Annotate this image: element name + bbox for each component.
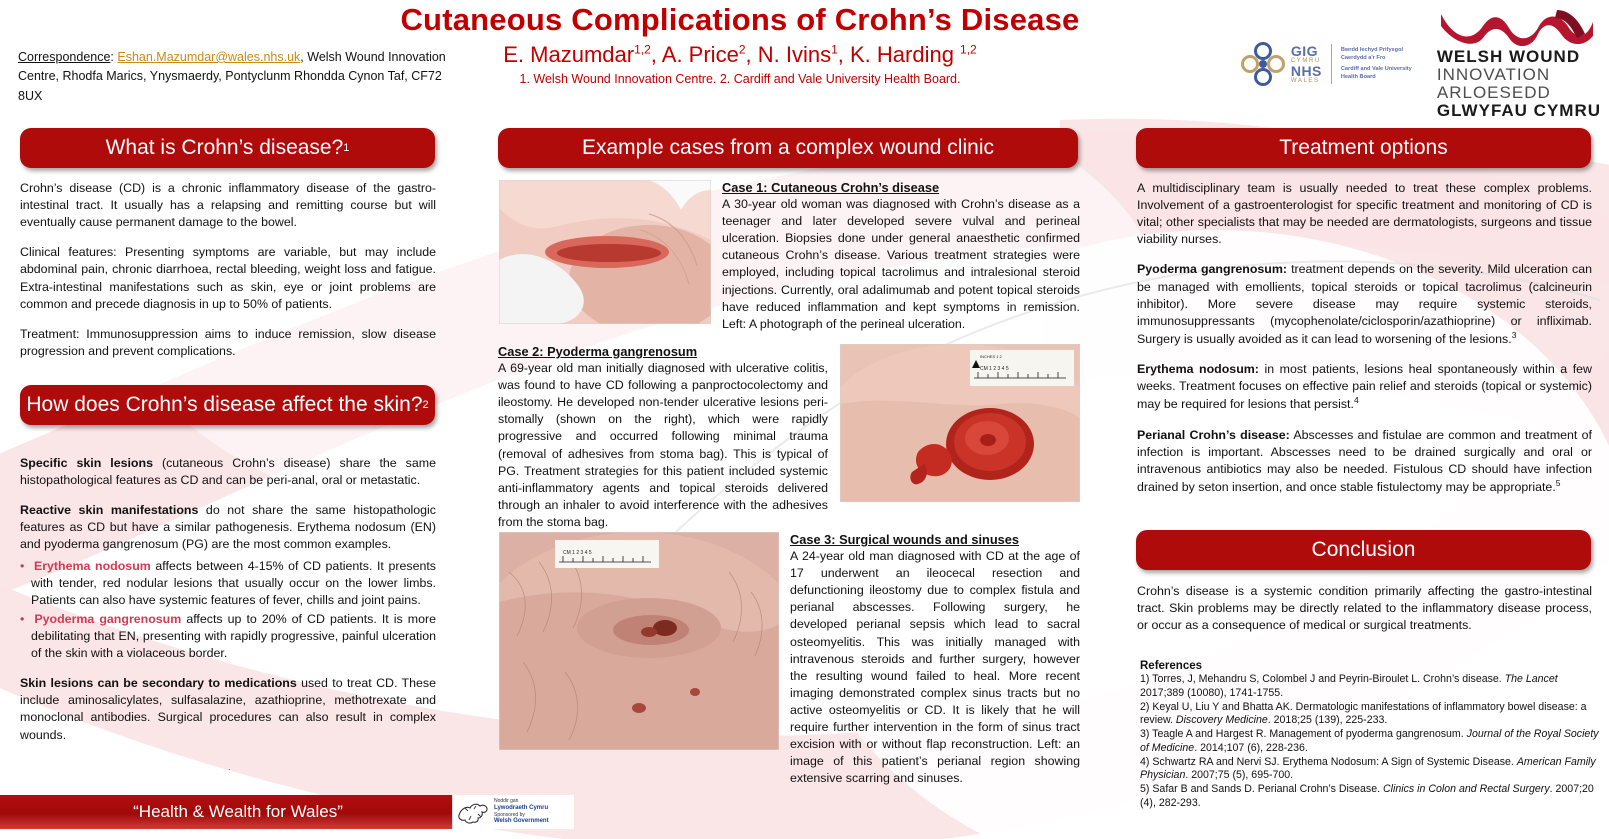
affect-skin-bullet-pyoderma-gangrenosum: Pyoderma gangrenosum affects up to 20% o… — [20, 611, 436, 662]
affiliations: 1. Welsh Wound Innovation Centre. 2. Car… — [390, 72, 1090, 86]
section-heading-what-is-crohns: What is Crohn’s disease?1 — [20, 128, 435, 168]
svg-text:CM 1 2 3 4 5: CM 1 2 3 4 5 — [563, 550, 592, 556]
case-1-body: Case 1: Cutaneous Crohn’s disease A 30-y… — [722, 180, 1080, 333]
treatment-options-body: A multidisciplinary team is usually need… — [1137, 180, 1592, 496]
case-2-photo-image: CM 1 2 3 4 5 INCHES 1 2 — [840, 344, 1080, 502]
affect-skin-p3-bold: Skin lesions can be secondary to medicat… — [20, 676, 297, 690]
reference-item: 1) Torres, J, Mehandru S, Colombel J and… — [1140, 673, 1600, 701]
wwi-line-3: ARLOESEDD — [1437, 84, 1551, 102]
wwi-ribbon-icon — [1437, 8, 1597, 48]
affect-skin-bullet-erythema-nodosum: Erythema nodosum affects between 4-15% o… — [20, 558, 436, 609]
welsh-government-text: Noddir gan Lywodraeth Cymru Sponsored by… — [494, 798, 549, 826]
treatment-options-heading-text: Treatment options — [1279, 136, 1447, 160]
section-heading-example-cases: Example cases from a complex wound clini… — [498, 128, 1078, 168]
section-heading-treatment-options: Treatment options — [1136, 128, 1591, 168]
affect-skin-p2: Reactive skin manifestations do not shar… — [20, 502, 436, 553]
conclusion-p1: Crohn’s disease is a systemic condition … — [1137, 583, 1592, 634]
footer-slogan-bar: “Health & Wealth for Wales” — [0, 795, 498, 829]
what-is-crohns-p2: Clinical features: Presenting symptoms a… — [20, 244, 436, 312]
case-3-photo-image: CM 1 2 3 4 5 — [499, 532, 779, 750]
treatment-perianal-ref: 5 — [1556, 478, 1561, 488]
welsh-government-logo: Noddir gan Lywodraeth Cymru Sponsored by… — [452, 795, 574, 829]
svg-text:CM 1 2 3 4 5: CM 1 2 3 4 5 — [980, 366, 1009, 372]
what-is-crohns-heading-text: What is Crohn’s disease? — [106, 136, 344, 160]
section-heading-affect-skin: How does Crohn’s disease affect the skin… — [20, 385, 435, 425]
footer-slogan: “Health & Wealth for Wales” — [133, 802, 343, 822]
health-board-name: Bwrdd Iechyd Prifysgol Caerdydd a'r Fro … — [1341, 46, 1423, 81]
treatment-erythema-ref: 4 — [1354, 395, 1359, 405]
nhs-nhs-text: NHS — [1291, 64, 1322, 78]
poster-footer: “Health & Wealth for Wales” Noddir gan L… — [0, 795, 575, 829]
pyoderma-gangrenosum-term: Pyoderma gangrenosum — [34, 612, 181, 626]
case-3-photo: CM 1 2 3 4 5 — [499, 532, 779, 750]
poster-header: Correspondence: Eshan.Mazumdar@wales.nhs… — [0, 0, 1609, 118]
affect-skin-ref: 2 — [423, 399, 429, 411]
reference-item: 2) Keyal U, Liu Y and Bhatta AK. Dermato… — [1140, 701, 1600, 729]
correspondence-label: Correspondence — [18, 50, 110, 64]
health-board-welsh: Bwrdd Iechyd Prifysgol Caerdydd a'r Fro — [1341, 46, 1423, 62]
treatment-pyoderma-label: Pyoderma gangrenosum: — [1137, 262, 1287, 276]
case-1-photo-image — [499, 180, 711, 324]
treatment-p1: A multidisciplinary team is usually need… — [1137, 180, 1592, 248]
nhs-gig-text: GIG — [1291, 44, 1322, 58]
affect-skin-p3: Skin lesions can be secondary to medicat… — [20, 675, 436, 743]
case-1-photo — [499, 180, 711, 324]
case-2-body: Case 2: Pyoderma gangrenosum A 69-year o… — [498, 344, 828, 531]
wg-english-line-2: Welsh Government — [494, 818, 549, 826]
treatment-pyoderma: Pyoderma gangrenosum: treatment depends … — [1137, 261, 1592, 348]
case-2-photo: CM 1 2 3 4 5 INCHES 1 2 — [840, 344, 1080, 502]
case-1-text: A 30-year old woman was diagnosed with C… — [722, 196, 1080, 333]
logo-divider — [1331, 44, 1332, 84]
what-is-crohns-ref: 1 — [343, 142, 349, 154]
nhs-wales-text: WALES — [1291, 78, 1322, 84]
affect-skin-p1-bold: Specific skin lesions — [20, 456, 153, 470]
case-3-title: Case 3: Surgical wounds and sinuses — [790, 532, 1080, 547]
wwi-line-1: WELSH WOUND — [1437, 48, 1580, 66]
example-cases-heading-text: Example cases from a complex wound clini… — [582, 136, 994, 160]
nhs-knot-icon — [1240, 41, 1286, 87]
conclusion-heading-text: Conclusion — [1312, 538, 1416, 562]
logo-group: GIG CYMRU NHS WALES Bwrdd Iechyd Prifysg… — [1240, 8, 1601, 119]
reference-item: 5) Safar B and Sands D. Perianal Crohn’s… — [1140, 783, 1600, 811]
conclusion-body: Crohn’s disease is a systemic condition … — [1137, 583, 1592, 634]
welsh-dragon-icon — [456, 799, 490, 825]
treatment-erythema-label: Erythema nodosum: — [1137, 362, 1259, 376]
case-3-text: A 24-year old man diagnosed with CD at t… — [790, 548, 1080, 788]
section-heading-conclusion: Conclusion — [1136, 530, 1591, 570]
page-title: Cutaneous Complications of Crohn’s Disea… — [390, 2, 1090, 38]
nhs-wales-logo: GIG CYMRU NHS WALES Bwrdd Iechyd Prifysg… — [1240, 41, 1423, 87]
health-board-english: Cardiff and Vale University Health Board — [1341, 65, 1423, 81]
welsh-wound-innovation-logo: WELSH WOUND INNOVATION ARLOESEDD GLWYFAU… — [1437, 8, 1601, 119]
affect-skin-p2-bold: Reactive skin manifestations — [20, 503, 198, 517]
what-is-crohns-p3: Treatment: Immunosuppression aims to ind… — [20, 326, 436, 360]
affect-skin-heading-text: How does Crohn’s disease affect the skin… — [26, 393, 422, 417]
treatment-perianal: Perianal Crohn’s disease: Abscesses and … — [1137, 427, 1592, 497]
wg-welsh-line-2: Lywodraeth Cymru — [494, 805, 549, 813]
treatment-pyoderma-ref: 3 — [1512, 330, 1517, 340]
treatment-erythema: Erythema nodosum: in most patients, lesi… — [1137, 361, 1592, 413]
treatment-perianal-label: Perianal Crohn’s disease: — [1137, 428, 1290, 442]
decorative-dot: . — [228, 762, 231, 772]
what-is-crohns-p1: Crohn’s disease (CD) is a chronic inflam… — [20, 180, 436, 231]
case-3-body: Case 3: Surgical wounds and sinuses A 24… — [790, 532, 1080, 788]
author-list: E. Mazumdar1,2, A. Price2, N. Ivins1, K.… — [390, 42, 1090, 68]
references-block: References 1) Torres, J, Mehandru S, Col… — [1140, 660, 1600, 811]
wwi-line-4: GLWYFAU CYMRU — [1437, 102, 1601, 120]
correspondence-email-link[interactable]: Eshan.Mazumdar@wales.nhs.uk — [117, 50, 300, 64]
svg-text:INCHES 1 2: INCHES 1 2 — [980, 354, 1003, 359]
affect-skin-p1: Specific skin lesions (cutaneous Crohn’s… — [20, 455, 436, 489]
case-2-text: A 69-year old man initially diagnosed wi… — [498, 360, 828, 531]
nhs-wordmark: GIG CYMRU NHS WALES — [1291, 44, 1322, 84]
references-list: 1) Torres, J, Mehandru S, Colombel J and… — [1140, 673, 1600, 811]
case-2-title: Case 2: Pyoderma gangrenosum — [498, 344, 828, 359]
poster-canvas: Correspondence: Eshan.Mazumdar@wales.nhs… — [0, 0, 1609, 839]
wwi-line-2: INNOVATION — [1437, 66, 1550, 84]
case-1-title: Case 1: Cutaneous Crohn’s disease — [722, 180, 1080, 195]
references-heading: References — [1140, 660, 1600, 672]
erythema-nodosum-term: Erythema nodosum — [34, 559, 151, 573]
affect-skin-body: Specific skin lesions (cutaneous Crohn’s… — [20, 455, 436, 744]
reference-item: 3) Teagle A and Hargest R. Management of… — [1140, 728, 1600, 756]
what-is-crohns-body: Crohn’s disease (CD) is a chronic inflam… — [20, 180, 436, 360]
reference-item: 4) Schwartz RA and Nervi SJ. Erythema No… — [1140, 756, 1600, 784]
